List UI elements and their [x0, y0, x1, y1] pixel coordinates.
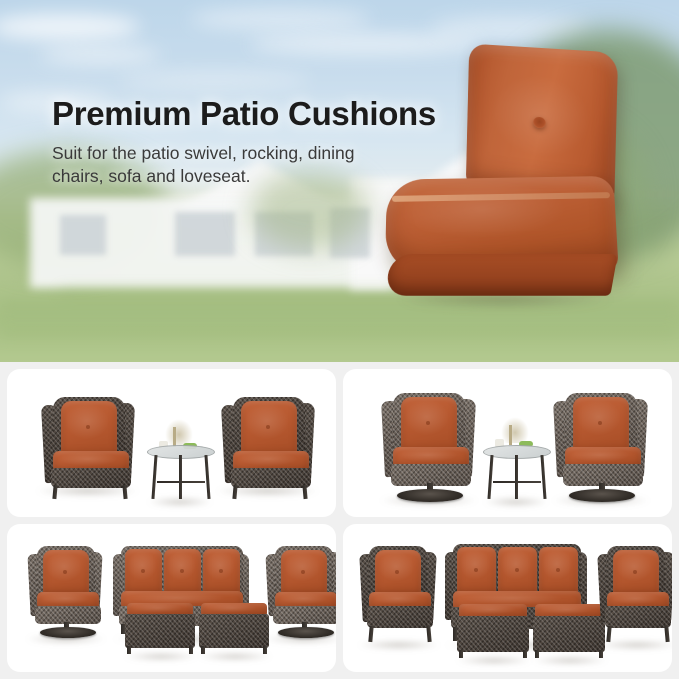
table-leg — [487, 455, 493, 499]
ottoman-frame — [125, 614, 195, 648]
gallery-card-5pc-club-sofa-set[interactable] — [343, 524, 672, 672]
cushion-tuft-button — [633, 570, 637, 574]
ottoman-leg — [535, 650, 539, 658]
hero-subtitle-line-1: Suit for the patio swivel, rocking, dini… — [52, 142, 436, 165]
centerpiece-stem — [173, 427, 176, 447]
product-gallery-grid — [0, 362, 679, 679]
swivel-base — [278, 627, 334, 638]
chair-base-frame — [367, 606, 433, 628]
cushion-tuft-button — [556, 568, 560, 572]
sofa-back-cushion — [498, 547, 537, 595]
chair-leg — [52, 485, 57, 499]
sofa-back-cushion — [164, 549, 201, 595]
ottoman-leg — [189, 646, 193, 654]
ottoman-leg — [459, 650, 463, 658]
table-centerpiece — [501, 417, 529, 443]
ottoman-leg — [263, 646, 267, 654]
table-stretcher — [157, 481, 205, 483]
hero-banner: Premium Patio Cushions Suit for the pati… — [0, 0, 679, 362]
ottoman-leg — [201, 646, 205, 654]
gallery-card-5pc-swivel-sofa-set[interactable] — [7, 524, 336, 672]
chair-leg — [664, 626, 669, 642]
swivel-base — [397, 489, 463, 502]
ottoman-frame — [199, 614, 269, 648]
cushion-tuft-button — [63, 570, 67, 574]
hero-subtitle-line-2: chairs, sofa and loveseat. — [52, 165, 436, 188]
product-scene — [343, 524, 672, 672]
cushion-tuft-button — [141, 569, 145, 573]
cushion-tuft-button — [474, 568, 478, 572]
furniture-shadow — [197, 652, 273, 661]
back-cushion — [281, 550, 327, 596]
back-cushion — [613, 550, 659, 596]
cushion-tuft-button — [266, 425, 270, 429]
table-centerpiece — [165, 419, 193, 445]
chair-base-frame — [605, 606, 671, 628]
cushion-tuft-button — [301, 570, 305, 574]
cloud-shape — [190, 8, 370, 30]
gallery-card-3pc-swivel-set[interactable] — [343, 369, 672, 517]
cloud-shape — [40, 46, 160, 64]
sofa-back-cushion — [457, 547, 496, 595]
back-cushion — [573, 397, 629, 453]
gallery-card-3pc-bistro-set[interactable] — [7, 369, 336, 517]
chair-base-frame — [51, 468, 131, 488]
cushion-tuft-button — [180, 569, 184, 573]
sofa-back-cushion — [125, 549, 162, 595]
furniture-shadow — [455, 656, 533, 665]
furniture-shadow — [531, 656, 609, 665]
cloud-shape — [120, 72, 310, 88]
cushion-tuft-button — [426, 421, 430, 425]
back-cushion — [43, 550, 89, 596]
ottoman-leg — [127, 646, 131, 654]
product-marketing-image: Premium Patio Cushions Suit for the pati… — [0, 0, 679, 679]
cushion-tuft-button — [219, 569, 223, 573]
back-cushion — [375, 550, 421, 596]
centerpiece-stem — [509, 425, 512, 445]
table-leg — [540, 455, 546, 499]
chair-leg — [232, 485, 237, 499]
ottoman-frame — [457, 616, 529, 652]
house-window — [175, 212, 235, 256]
swivel-base — [569, 489, 635, 502]
chair-leg — [426, 626, 431, 642]
back-cushion — [61, 401, 117, 457]
cushion-tuft-button — [395, 570, 399, 574]
seat-cushion-front-face — [385, 254, 618, 296]
swivel-base — [40, 627, 96, 638]
chair-base-frame — [231, 468, 311, 488]
table-leg — [151, 455, 157, 499]
cloud-shape — [0, 14, 140, 40]
hero-text-block: Premium Patio Cushions Suit for the pati… — [52, 96, 436, 188]
ottoman-leg — [599, 650, 603, 658]
table-stretcher — [493, 481, 541, 483]
sofa-back-cushion — [539, 547, 578, 595]
table-leg — [515, 455, 518, 499]
table-leg — [204, 455, 210, 499]
house-window — [60, 215, 106, 255]
product-scene — [343, 369, 672, 517]
product-scene — [7, 369, 336, 517]
furniture-shadow — [123, 652, 199, 661]
page-title: Premium Patio Cushions — [52, 96, 436, 133]
back-cushion — [241, 401, 297, 457]
table-leg — [179, 455, 182, 499]
product-scene — [7, 524, 336, 672]
cushion-tuft-button — [598, 421, 602, 425]
hero-subtitle: Suit for the patio swivel, rocking, dini… — [52, 142, 436, 189]
back-cushion — [401, 397, 457, 453]
cushion-tuft-button — [515, 568, 519, 572]
sofa-back-cushion — [203, 549, 240, 595]
cushion-tuft-button — [86, 425, 90, 429]
cushion-tuft-button — [533, 116, 546, 128]
ottoman-leg — [523, 650, 527, 658]
lawn-stripe — [0, 326, 679, 337]
